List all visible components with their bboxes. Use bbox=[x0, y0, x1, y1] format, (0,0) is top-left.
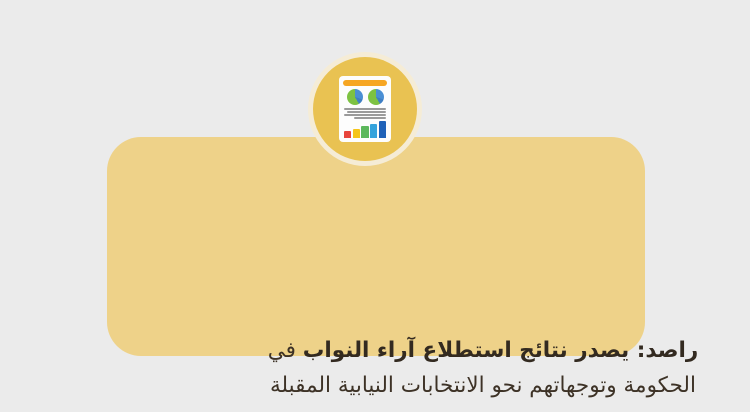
headline-text: راصد: يصدر نتائج استطلاع آراء النواب في … bbox=[214, 333, 750, 403]
bar-4 bbox=[370, 124, 377, 138]
pie-chart-icon-2 bbox=[347, 89, 363, 105]
report-sheet-icon bbox=[339, 76, 391, 142]
headline-card: راصد: يصدر نتائج استطلاع آراء النواب في … bbox=[107, 137, 645, 356]
report-chart-icon bbox=[308, 52, 422, 166]
bar-3 bbox=[361, 126, 368, 138]
bar-1 bbox=[344, 131, 351, 138]
headline-lead: راصد: يصدر نتائج استطلاع آراء النواب bbox=[303, 338, 699, 363]
report-chart-icon-circle bbox=[313, 57, 417, 161]
pie-chart-icon-1 bbox=[368, 89, 384, 105]
sheet-header-bar-icon bbox=[343, 80, 387, 86]
sheet-pie-charts-icon bbox=[343, 88, 387, 105]
bar-2 bbox=[353, 129, 360, 138]
bar-5 bbox=[379, 121, 386, 139]
sheet-bar-chart-icon bbox=[343, 121, 387, 140]
screenshot-stage: راصد: يصدر نتائج استطلاع آراء النواب في … bbox=[0, 0, 750, 412]
sheet-text-lines-icon bbox=[343, 107, 387, 119]
